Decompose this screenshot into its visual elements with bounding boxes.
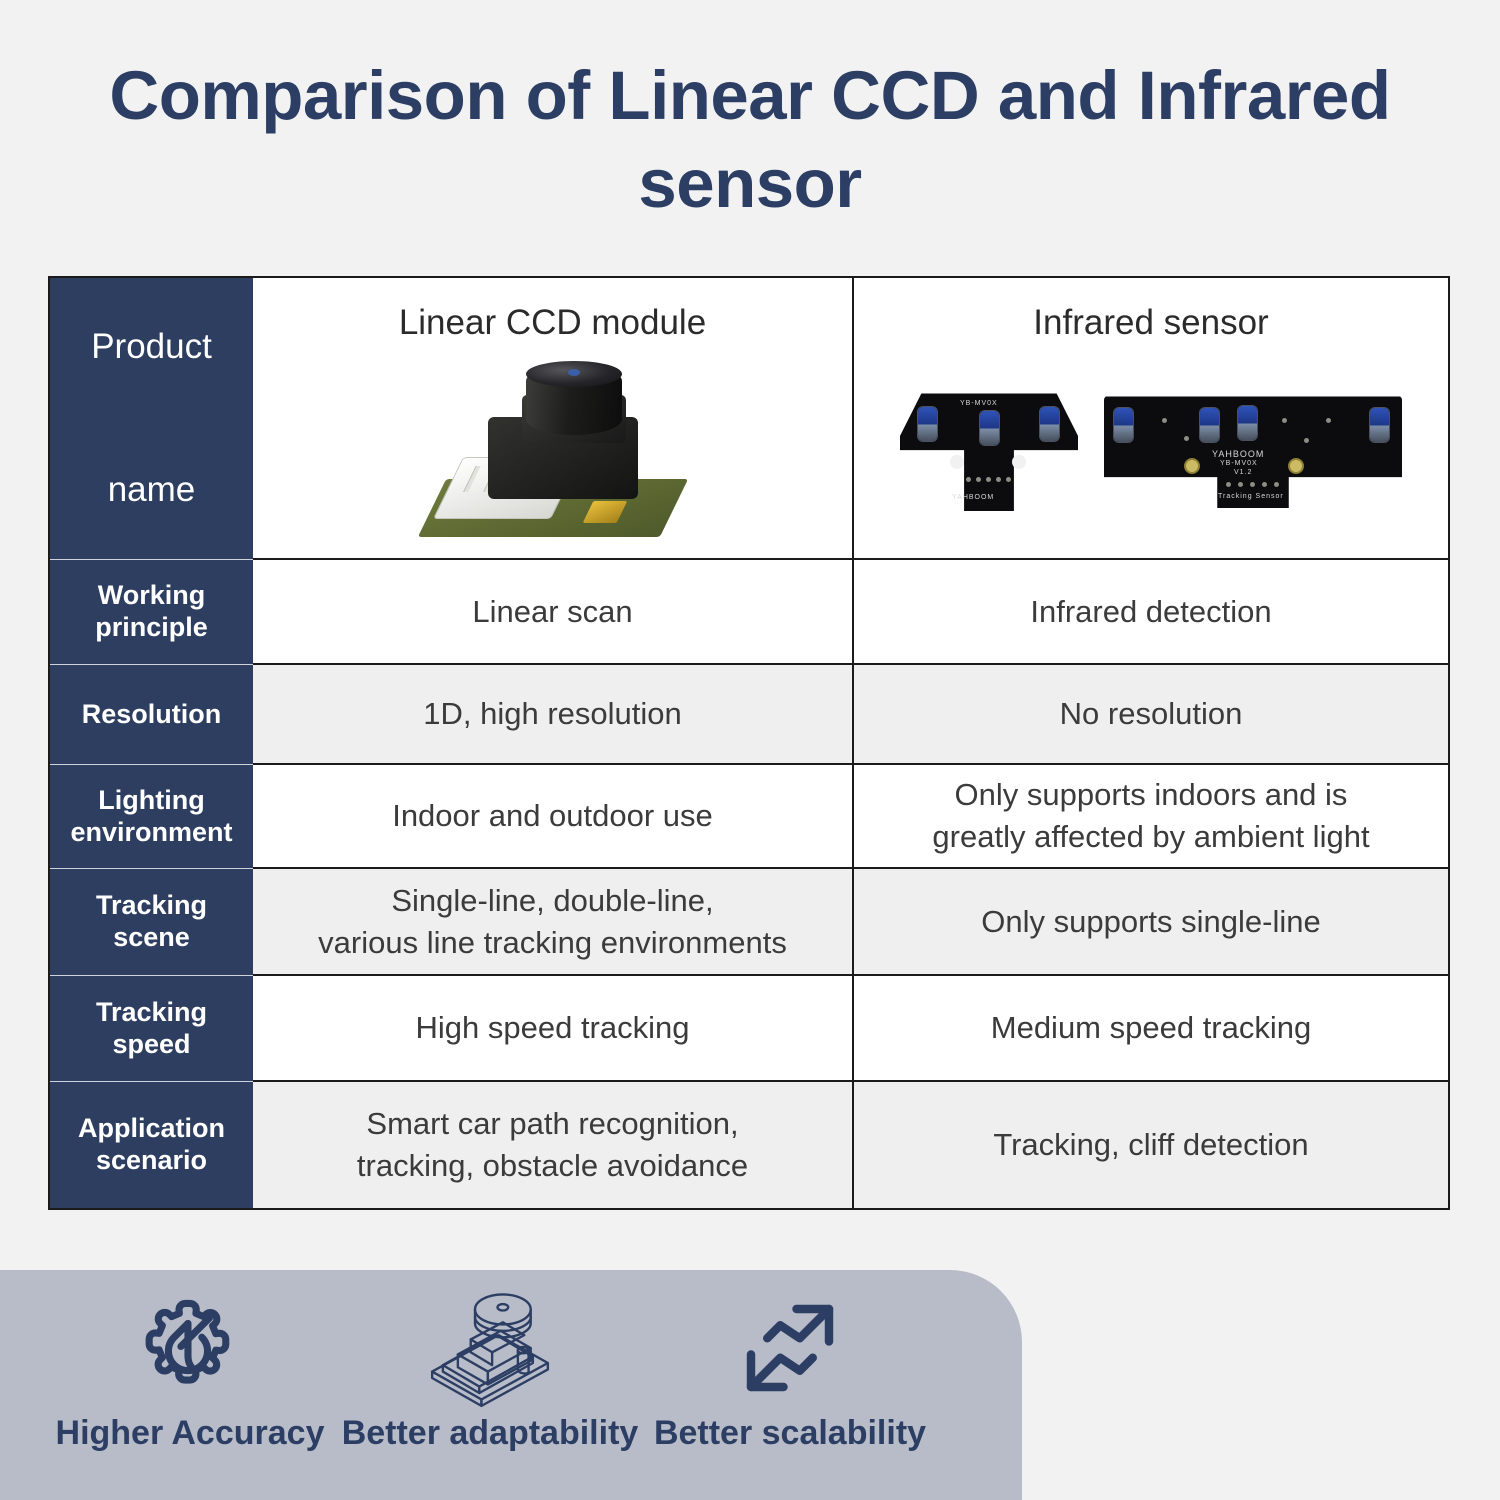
cell-lighting-infrared: Only supports indoors and is greatly aff… (854, 765, 1448, 867)
product-image-linear-ccd (267, 353, 838, 552)
cell-working-principle-ccd: Linear scan (253, 560, 854, 663)
ir2-led-4 (1370, 408, 1389, 442)
cell-tracking-speed-ccd: High speed tracking (253, 976, 854, 1080)
feature-item-higher-accuracy: Higher Accuracy (40, 1270, 340, 1453)
cell-tracking-scene-ccd: Single-line, double-line, various line t… (253, 869, 854, 974)
ir2-led-1 (1114, 408, 1133, 442)
cell-tracking-speed-infrared: Medium speed tracking (854, 976, 1448, 1080)
feature-item-better-scalability: Better scalability (640, 1270, 940, 1453)
table-row-product-name: Product name Linear CCD module (50, 278, 1448, 560)
ir1-led-1 (918, 407, 937, 441)
ir2-led-3 (1238, 406, 1257, 440)
ir1-led-3 (1040, 407, 1059, 441)
cell-resolution-infrared: No resolution (854, 665, 1448, 763)
page-title: Comparison of Linear CCD and Infrared se… (0, 52, 1500, 229)
feature-label: Better scalability (654, 1414, 926, 1453)
product-image-infrared: YB-MV0X YAHBOOM (868, 353, 1434, 552)
table-row: Tracking scene Single-line, double-line,… (50, 869, 1448, 976)
infrared-board-3ch: YB-MV0X YAHBOOM (900, 393, 1078, 511)
ir1-mount-hole-left (950, 455, 964, 469)
ir1-brand-text: YAHBOOM (952, 493, 994, 502)
row-label-application-scenario: Application scenario (50, 1082, 253, 1208)
row-label-working-principle: Working principle (50, 560, 253, 665)
table-row: Resolution 1D, high resolution No resolu… (50, 665, 1448, 765)
ir2-caption-text: Tracking Sensor (1218, 492, 1284, 501)
table-row: Lighting environment Indoor and outdoor … (50, 765, 1448, 869)
feature-label: Higher Accuracy (56, 1414, 325, 1453)
cell-tracking-scene-infrared: Only supports single-line (854, 869, 1448, 974)
table-row: Working principle Linear scan Infrared d… (50, 560, 1448, 665)
feature-list: Higher Accuracy (40, 1270, 1000, 1500)
row-label-lighting-environment: Lighting environment (50, 765, 253, 869)
cell-product-name-ccd: Linear CCD module (253, 278, 854, 558)
row-label-tracking-scene: Tracking scene (50, 869, 253, 976)
ir2-model-text: YB-MV0X (1220, 459, 1258, 468)
cell-application-ccd: Smart car path recognition, tracking, ob… (253, 1082, 854, 1208)
feature-label: Better adaptability (342, 1414, 639, 1453)
expand-arrows-icon (738, 1288, 842, 1408)
linear-ccd-module-photo (422, 361, 684, 543)
feature-item-better-adaptability: Better adaptability (340, 1270, 640, 1453)
gear-leaf-icon (136, 1288, 244, 1408)
cell-product-name-infrared: Infrared sensor YB-MV0X (854, 278, 1448, 558)
sensor-module-icon (424, 1288, 556, 1408)
ir2-version-text: V1.2 (1234, 468, 1252, 477)
table-row: Application scenario Smart car path reco… (50, 1082, 1448, 1208)
column-header-linear-ccd: Linear CCD module (399, 300, 706, 347)
ir2-led-2 (1200, 408, 1219, 442)
ir1-mount-hole-right (1012, 455, 1026, 469)
row-label-resolution: Resolution (50, 665, 253, 765)
cell-working-principle-infrared: Infrared detection (854, 560, 1448, 663)
infographic-page: Comparison of Linear CCD and Infrared se… (0, 0, 1500, 1500)
ir1-model-text: YB-MV0X (960, 399, 998, 408)
ir1-led-2 (980, 411, 999, 445)
row-label-product-name: Product name (50, 278, 253, 560)
column-header-infrared: Infrared sensor (1033, 300, 1268, 347)
infrared-board-4ch: YAHBOOM YB-MV0X V1.2 Tracking Sensor (1104, 396, 1402, 508)
cell-resolution-ccd: 1D, high resolution (253, 665, 854, 763)
row-label-tracking-speed: Tracking speed (50, 976, 253, 1082)
cell-application-infrared: Tracking, cliff detection (854, 1082, 1448, 1208)
feature-bar: Higher Accuracy (0, 1270, 1022, 1500)
infrared-tracking-sensor-photo: YB-MV0X YAHBOOM (900, 393, 1402, 511)
comparison-table: Product name Linear CCD module (48, 276, 1450, 1210)
cell-lighting-ccd: Indoor and outdoor use (253, 765, 854, 867)
table-row: Tracking speed High speed tracking Mediu… (50, 976, 1448, 1082)
